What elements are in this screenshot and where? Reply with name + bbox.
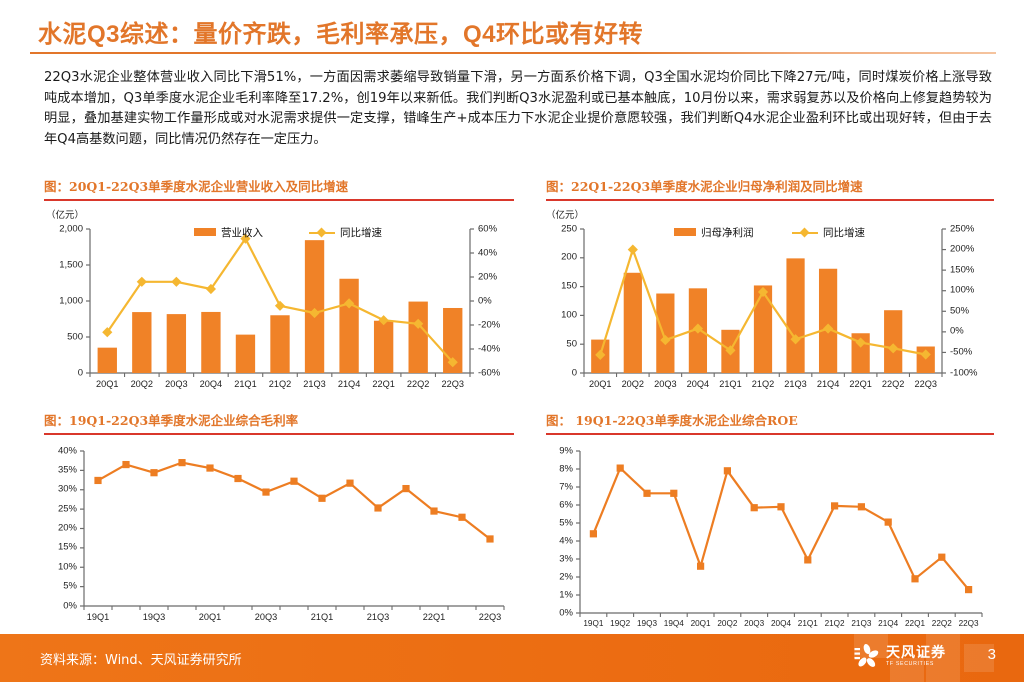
bar xyxy=(236,334,255,372)
source-note: 资料来源：Wind、天风证券研究所 xyxy=(40,649,242,668)
bar xyxy=(786,258,804,373)
data-point-marker xyxy=(430,507,437,514)
y-axis-unit-label: （亿元） xyxy=(546,207,584,221)
x-axis-tick-label: 22Q1 xyxy=(905,619,925,628)
data-point-marker xyxy=(751,504,758,511)
data-point-marker xyxy=(911,575,918,582)
x-axis-tick-label: 22Q3 xyxy=(914,379,936,389)
x-axis-tick-label: 20Q1 xyxy=(96,379,118,389)
x-axis-tick-label: 20Q2 xyxy=(622,379,644,389)
figure-net-profit-plot: （亿元）050100150200250-100%-50%0%50%100%150… xyxy=(546,207,994,399)
x-axis-tick-label: 20Q3 xyxy=(255,612,277,622)
logo-name-en: TF SECURITIES xyxy=(886,661,946,667)
y-axis-right-tick-label: -100% xyxy=(950,367,977,378)
y-axis-right-tick-label: 60% xyxy=(478,223,497,234)
figure-gross-margin: 图：19Q1-22Q3单季度水泥企业综合毛利率 0%5%10%15%20%25%… xyxy=(44,410,514,636)
revenue-svg xyxy=(44,207,514,399)
y-axis-tick-label: 0 xyxy=(549,367,577,378)
figure-revenue-plot: （亿元）05001,0001,5002,000-60%-40%-20%0%20%… xyxy=(44,207,514,399)
x-axis-tick-label: 21Q4 xyxy=(878,619,898,628)
figure-revenue: 图：20Q1-22Q3单季度水泥企业营业收入及同比增速 （亿元）05001,00… xyxy=(44,176,514,399)
y-axis-tick-label: 35% xyxy=(47,464,77,475)
legend-label: 同比增速 xyxy=(340,225,382,240)
x-axis-tick-label: 22Q3 xyxy=(959,619,979,628)
x-axis-tick-label: 20Q2 xyxy=(717,619,737,628)
figure-gross-margin-divider xyxy=(44,433,514,435)
y-axis-tick-label: 6% xyxy=(549,499,573,510)
bar xyxy=(409,301,428,372)
x-axis-tick-label: 19Q3 xyxy=(143,612,165,622)
y-axis-tick-label: 7% xyxy=(549,481,573,492)
logo-name-cn: 天风证券 xyxy=(886,645,946,659)
bar xyxy=(884,310,902,373)
bar xyxy=(819,268,837,372)
x-axis-tick-label: 22Q1 xyxy=(849,379,871,389)
x-axis-tick-label: 20Q1 xyxy=(691,619,711,628)
x-axis-tick-label: 21Q1 xyxy=(719,379,741,389)
x-axis-tick-label: 20Q1 xyxy=(589,379,611,389)
y-axis-right-tick-label: 50% xyxy=(950,305,969,316)
y-axis-tick-label: 0% xyxy=(549,607,573,618)
y-axis-tick-label: 150 xyxy=(549,281,577,292)
y-axis-tick-label: 2,000 xyxy=(47,223,83,234)
y-axis-tick-label: 200 xyxy=(549,252,577,263)
data-point-marker xyxy=(262,488,269,495)
bar xyxy=(754,285,772,373)
y-axis-tick-label: 1,000 xyxy=(47,295,83,306)
bar xyxy=(98,347,117,372)
y-axis-tick-label: 3% xyxy=(549,553,573,564)
slide-footer: 资料来源：Wind、天风证券研究所 xyxy=(0,634,1024,682)
legend-label: 营业收入 xyxy=(221,225,263,240)
data-point-marker xyxy=(374,504,381,511)
data-point-marker xyxy=(777,503,784,510)
tf-flower-icon xyxy=(854,643,880,669)
figure-revenue-title: 图：20Q1-22Q3单季度水泥企业营业收入及同比增速 xyxy=(44,176,514,195)
data-point-marker xyxy=(590,530,597,537)
figure-net-profit: 图：22Q1-22Q3单季度水泥企业归母净利润及同比增速 （亿元）0501001… xyxy=(546,176,994,399)
figure-roe-plot: 0%1%2%3%4%5%6%7%8%9%19Q119Q219Q319Q420Q1… xyxy=(546,441,994,653)
net-profit-svg xyxy=(546,207,994,399)
y-axis-tick-label: 8% xyxy=(549,463,573,474)
bar xyxy=(167,314,186,373)
x-axis-tick-label: 19Q1 xyxy=(87,612,109,622)
bar xyxy=(201,312,220,373)
y-axis-right-tick-label: 0% xyxy=(950,326,964,337)
data-point-marker xyxy=(804,556,811,563)
y-axis-tick-label: 5% xyxy=(47,581,77,592)
y-axis-right-tick-label: 200% xyxy=(950,244,974,255)
data-point-marker xyxy=(290,477,297,484)
y-axis-tick-label: 0% xyxy=(47,600,77,611)
y-axis-tick-label: 50 xyxy=(549,338,577,349)
x-axis-tick-label: 20Q4 xyxy=(200,379,222,389)
y-axis-tick-label: 100 xyxy=(549,309,577,320)
y-axis-right-tick-label: -20% xyxy=(478,319,500,330)
data-point-marker xyxy=(122,461,129,468)
series-line xyxy=(593,468,968,589)
data-point-marker xyxy=(831,502,838,509)
page-title: 水泥Q3综述：量价齐跌，毛利率承压，Q4环比或有好转 xyxy=(38,14,643,49)
data-point-marker xyxy=(206,464,213,471)
x-axis-tick-label: 20Q3 xyxy=(744,619,764,628)
x-axis-tick-label: 21Q1 xyxy=(311,612,333,622)
data-point-marker xyxy=(171,276,181,286)
figure-gross-margin-title: 图：19Q1-22Q3单季度水泥企业综合毛利率 xyxy=(44,410,514,429)
data-point-marker xyxy=(346,479,353,486)
data-point-marker xyxy=(724,467,731,474)
x-axis-tick-label: 22Q2 xyxy=(932,619,952,628)
x-axis-tick-label: 20Q3 xyxy=(165,379,187,389)
x-axis-tick-label: 22Q1 xyxy=(372,379,394,389)
x-axis-tick-label: 21Q4 xyxy=(338,379,360,389)
y-axis-right-tick-label: 40% xyxy=(478,247,497,258)
x-axis-tick-label: 21Q2 xyxy=(752,379,774,389)
data-point-marker xyxy=(318,494,325,501)
y-axis-tick-label: 1,500 xyxy=(47,259,83,270)
x-axis-tick-label: 19Q3 xyxy=(637,619,657,628)
data-point-marker xyxy=(965,586,972,593)
data-point-marker xyxy=(643,489,650,496)
data-point-marker xyxy=(697,562,704,569)
data-point-marker xyxy=(670,489,677,496)
x-axis-tick-label: 20Q3 xyxy=(654,379,676,389)
y-axis-right-tick-label: -50% xyxy=(950,347,972,358)
x-axis-tick-label: 19Q1 xyxy=(583,619,603,628)
figure-roe: 图： 19Q1-22Q3单季度水泥企业综合ROE 0%1%2%3%4%5%6%7… xyxy=(546,410,994,653)
legend-label: 归母净利润 xyxy=(701,225,754,240)
data-point-marker xyxy=(486,535,493,542)
data-point-marker xyxy=(858,503,865,510)
data-point-marker xyxy=(178,459,185,466)
data-point-marker xyxy=(402,485,409,492)
bar xyxy=(305,240,324,373)
x-axis-tick-label: 21Q1 xyxy=(234,379,256,389)
legend-item-bar: 营业收入 xyxy=(194,225,263,240)
x-axis-tick-label: 20Q4 xyxy=(687,379,709,389)
data-point-marker xyxy=(458,513,465,520)
y-axis-tick-label: 9% xyxy=(549,445,573,456)
x-axis-tick-label: 21Q3 xyxy=(851,619,871,628)
page-number: 3 xyxy=(988,646,996,663)
data-point-marker xyxy=(628,244,638,254)
x-axis-tick-label: 21Q1 xyxy=(798,619,818,628)
x-axis-tick-label: 22Q1 xyxy=(423,612,445,622)
legend-item-line: 同比增速 xyxy=(309,225,382,240)
bar xyxy=(374,320,393,372)
data-point-marker xyxy=(938,553,945,560)
figure-net-profit-title: 图：22Q1-22Q3单季度水泥企业归母净利润及同比增速 xyxy=(546,176,994,195)
data-point-marker xyxy=(150,469,157,476)
x-axis-tick-label: 22Q2 xyxy=(407,379,429,389)
y-axis-tick-label: 20% xyxy=(47,523,77,534)
x-axis-tick-label: 20Q2 xyxy=(131,379,153,389)
x-axis-tick-label: 21Q3 xyxy=(303,379,325,389)
summary-paragraph: 22Q3水泥企业整体营业收入同比下滑51%，一方面因需求萎缩导致销量下滑，另一方… xyxy=(44,68,992,150)
x-axis-tick-label: 22Q2 xyxy=(882,379,904,389)
y-axis-unit-label: （亿元） xyxy=(46,207,84,221)
gross-margin-svg xyxy=(44,441,514,636)
x-axis-tick-label: 20Q1 xyxy=(199,612,221,622)
x-axis-tick-label: 21Q3 xyxy=(784,379,806,389)
figure-roe-divider xyxy=(546,433,994,435)
y-axis-tick-label: 0 xyxy=(47,367,83,378)
y-axis-right-tick-label: -40% xyxy=(478,343,500,354)
data-point-marker xyxy=(234,475,241,482)
legend-bar-swatch-icon xyxy=(194,228,216,236)
x-axis-tick-label: 21Q3 xyxy=(367,612,389,622)
legend-bar-swatch-icon xyxy=(674,228,696,236)
y-axis-tick-label: 500 xyxy=(47,331,83,342)
figure-roe-title: 图： 19Q1-22Q3单季度水泥企业综合ROE xyxy=(546,410,994,429)
header-divider xyxy=(30,52,996,54)
x-axis-tick-label: 19Q4 xyxy=(664,619,684,628)
bar xyxy=(270,315,289,373)
figure-net-profit-divider xyxy=(546,199,994,201)
logo-text-block: 天风证券 TF SECURITIES xyxy=(886,645,946,667)
y-axis-tick-label: 15% xyxy=(47,542,77,553)
legend-line-swatch-icon xyxy=(792,228,818,237)
legend-label: 同比增速 xyxy=(823,225,865,240)
y-axis-tick-label: 250 xyxy=(549,223,577,234)
y-axis-right-tick-label: -60% xyxy=(478,367,500,378)
y-axis-right-tick-label: 20% xyxy=(478,271,497,282)
x-axis-tick-label: 21Q2 xyxy=(269,379,291,389)
legend-line-swatch-icon xyxy=(309,228,335,237)
data-point-marker xyxy=(885,518,892,525)
bar xyxy=(656,293,674,372)
y-axis-tick-label: 10% xyxy=(47,561,77,572)
y-axis-right-tick-label: 0% xyxy=(478,295,492,306)
legend-item-line: 同比增速 xyxy=(792,225,865,240)
y-axis-right-tick-label: 100% xyxy=(950,285,974,296)
y-axis-tick-label: 40% xyxy=(47,445,77,456)
data-point-marker xyxy=(617,464,624,471)
y-axis-tick-label: 25% xyxy=(47,503,77,514)
y-axis-tick-label: 5% xyxy=(549,517,573,528)
company-logo: 天风证券 TF SECURITIES xyxy=(854,643,946,669)
slide-header: 水泥Q3综述：量价齐跌，毛利率承压，Q4环比或有好转 xyxy=(0,0,1024,58)
y-axis-right-tick-label: 250% xyxy=(950,223,974,234)
y-axis-tick-label: 4% xyxy=(549,535,573,546)
x-axis-tick-label: 22Q3 xyxy=(479,612,501,622)
x-axis-tick-label: 21Q4 xyxy=(817,379,839,389)
x-axis-tick-label: 21Q2 xyxy=(825,619,845,628)
y-axis-tick-label: 30% xyxy=(47,484,77,495)
x-axis-tick-label: 20Q4 xyxy=(771,619,791,628)
figure-gross-margin-plot: 0%5%10%15%20%25%30%35%40%19Q119Q320Q120Q… xyxy=(44,441,514,636)
bar xyxy=(339,278,358,372)
data-point-marker xyxy=(94,476,101,483)
legend-item-bar: 归母净利润 xyxy=(674,225,754,240)
x-axis-tick-label: 22Q3 xyxy=(441,379,463,389)
figure-revenue-divider xyxy=(44,199,514,201)
y-axis-tick-label: 2% xyxy=(549,571,573,582)
bar xyxy=(624,272,642,372)
y-axis-right-tick-label: 150% xyxy=(950,264,974,275)
slide-root: 水泥Q3综述：量价齐跌，毛利率承压，Q4环比或有好转 22Q3水泥企业整体营业收… xyxy=(0,0,1024,682)
y-axis-tick-label: 1% xyxy=(549,589,573,600)
x-axis-tick-label: 19Q2 xyxy=(610,619,630,628)
bar xyxy=(132,312,151,373)
data-point-marker xyxy=(275,300,285,310)
